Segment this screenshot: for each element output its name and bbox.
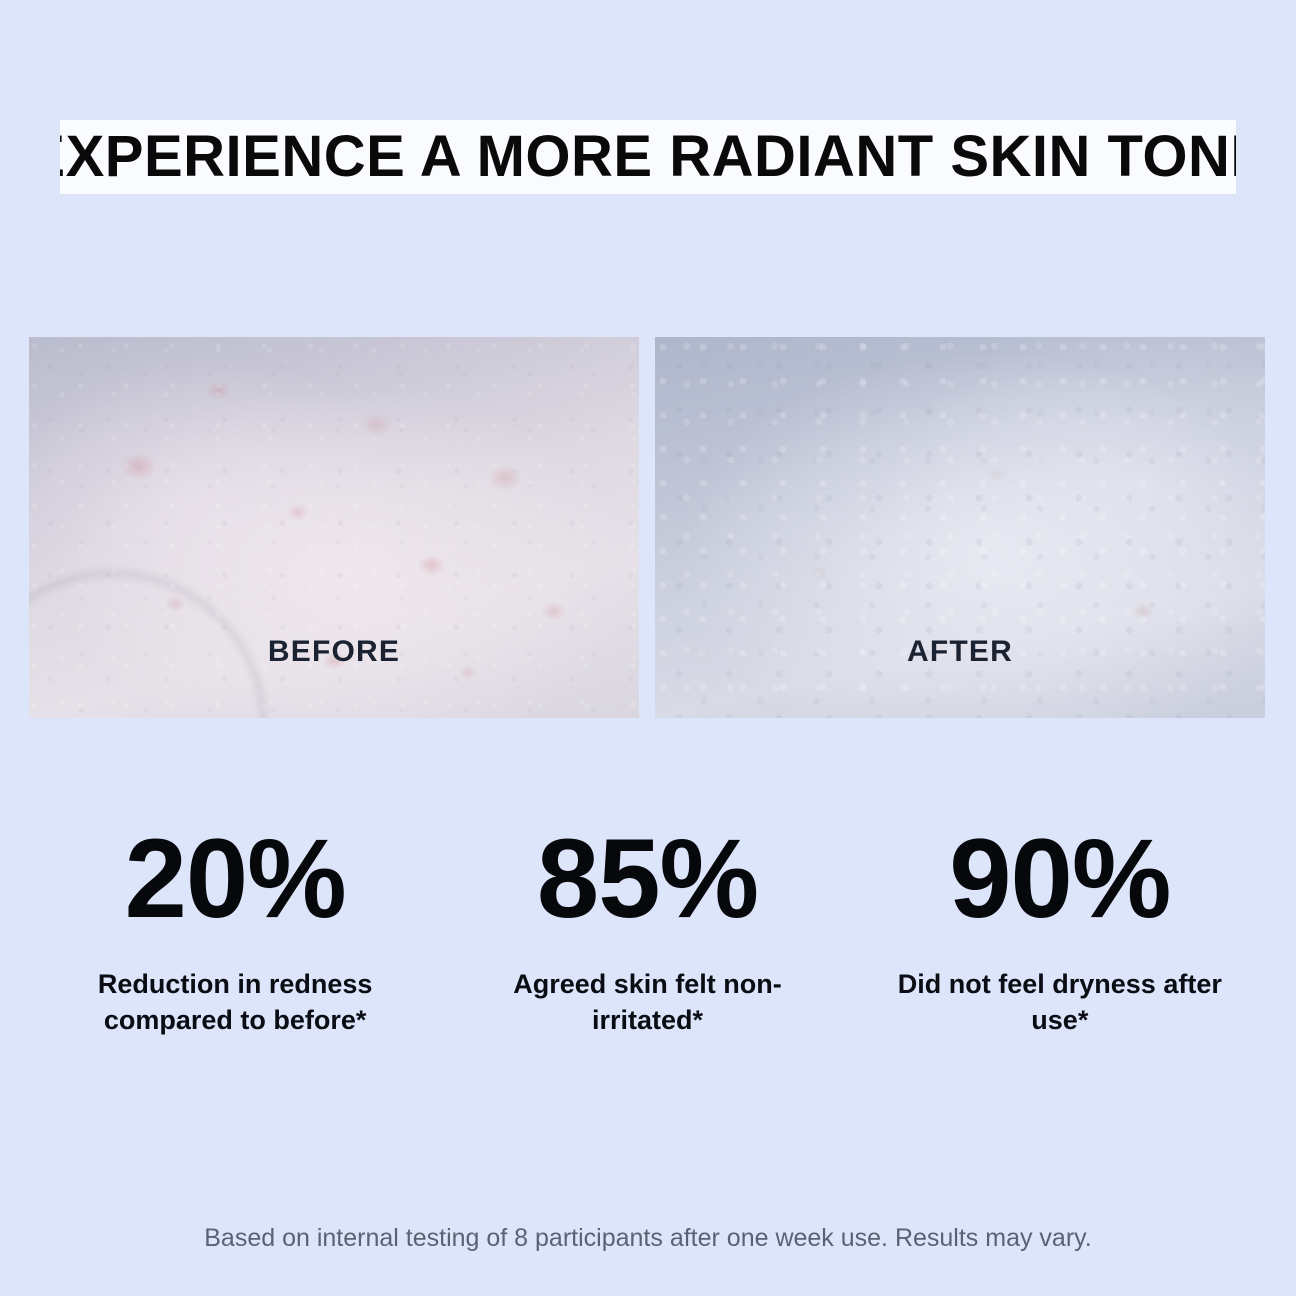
stat-caption: Did not feel dryness after use* [854, 966, 1266, 1038]
stat-block-redness: 20% Reduction in redness compared to bef… [29, 820, 441, 1038]
stat-caption: Reduction in redness compared to before* [29, 966, 441, 1038]
headline-banner: EXPERIENCE A MORE RADIANT SKIN TONE [60, 120, 1236, 194]
stat-block-dryness: 90% Did not feel dryness after use* [854, 820, 1266, 1038]
stat-value: 20% [29, 820, 441, 938]
stat-caption: Agreed skin felt non-irritated* [441, 966, 853, 1038]
stat-value: 85% [441, 820, 853, 938]
stats-row: 20% Reduction in redness compared to bef… [29, 820, 1266, 1038]
marketing-graphic: EXPERIENCE A MORE RADIANT SKIN TONE BEFO… [0, 0, 1296, 1296]
before-label: BEFORE [29, 635, 639, 669]
before-image: BEFORE [29, 337, 639, 718]
footnote-disclaimer: Based on internal testing of 8 participa… [0, 1222, 1296, 1254]
page-title: EXPERIENCE A MORE RADIANT SKIN TONE [60, 127, 1236, 187]
after-image: AFTER [655, 337, 1265, 718]
stat-value: 90% [854, 820, 1266, 938]
after-label: AFTER [655, 635, 1265, 669]
stat-block-non-irritated: 85% Agreed skin felt non-irritated* [441, 820, 853, 1038]
before-after-comparison: BEFORE AFTER [29, 337, 1266, 718]
